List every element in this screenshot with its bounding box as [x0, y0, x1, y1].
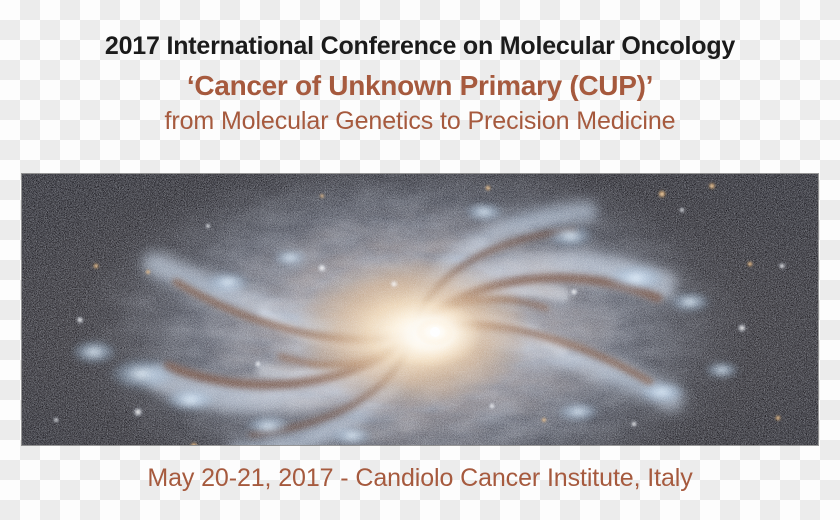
spiral-galaxy-image — [22, 174, 818, 445]
conference-poster: 2017 International Conference on Molecul… — [0, 0, 840, 520]
galaxy-illustration — [22, 174, 818, 445]
poster-footer: May 20-21, 2017 - Candiolo Cancer Instit… — [0, 462, 840, 494]
conference-subtitle: ‘Cancer of Unknown Primary (CUP)’ — [0, 68, 840, 104]
conference-title: 2017 International Conference on Molecul… — [0, 30, 840, 62]
conference-tagline: from Molecular Genetics to Precision Med… — [0, 105, 840, 137]
poster-header: 2017 International Conference on Molecul… — [0, 30, 840, 137]
event-details: May 20-21, 2017 - Candiolo Cancer Instit… — [0, 462, 840, 494]
foreground-stars — [22, 174, 818, 445]
